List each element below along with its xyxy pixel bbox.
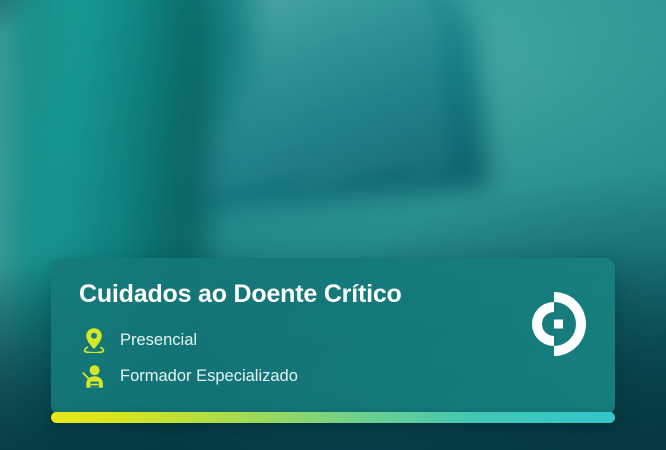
meta-label-format: Presencial	[120, 331, 197, 350]
brand-circle-logo	[518, 288, 590, 360]
meta-row-format: Presencial	[79, 322, 298, 358]
page-title: Cuidados ao Doente Crítico	[79, 280, 402, 309]
promo-banner: Cuidados ao Doente Crítico Presencial	[0, 0, 666, 450]
location-pin-icon	[79, 326, 109, 354]
course-meta-list: Presencial Formador Especializado	[79, 322, 298, 394]
meta-label-trainer: Formador Especializado	[120, 367, 298, 386]
course-info-card: Cuidados ao Doente Crítico Presencial	[51, 258, 615, 416]
meta-row-trainer: Formador Especializado	[79, 358, 298, 394]
gradient-accent-bar	[51, 412, 615, 423]
trainer-person-icon	[79, 362, 109, 390]
